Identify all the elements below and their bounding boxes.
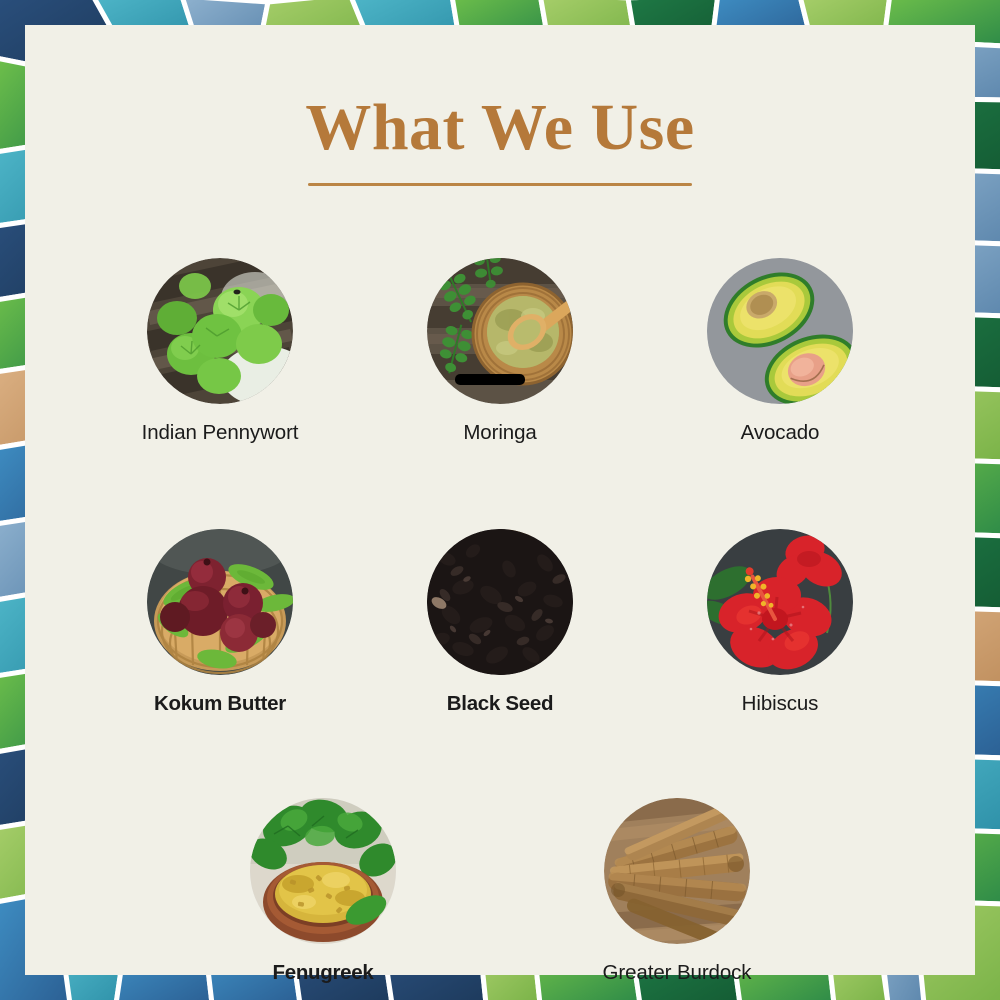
greater-burdock-photo xyxy=(604,798,750,944)
ingredient-label: Hibiscus xyxy=(742,692,819,716)
ingredient-item-avocado[interactable]: Avocado xyxy=(707,258,853,445)
ingredient-row: Kokum Butter xyxy=(25,529,975,716)
ingredient-row: Fenugreek xyxy=(25,798,975,985)
ingredient-grid: Indian Pennywort xyxy=(25,258,975,985)
ingredient-label: Kokum Butter xyxy=(154,692,286,716)
header: What We Use xyxy=(0,95,1000,186)
ingredient-label: Avocado xyxy=(741,421,820,445)
avocado-photo xyxy=(707,258,853,404)
ingredient-label: Greater Burdock xyxy=(603,961,752,985)
ingredient-item-fenugreek[interactable]: Fenugreek xyxy=(213,798,433,985)
ingredient-label: Fenugreek xyxy=(273,961,374,985)
ingredient-item-indian-pennywort[interactable]: Indian Pennywort xyxy=(147,258,293,445)
fenugreek-photo xyxy=(250,798,396,944)
page-title: What We Use xyxy=(305,95,694,161)
black-seed-photo xyxy=(427,529,573,675)
moringa-photo xyxy=(427,258,573,404)
ingredient-label: Black Seed xyxy=(447,692,553,716)
hibiscus-photo xyxy=(707,529,853,675)
title-underline-rule xyxy=(308,183,692,186)
ingredient-item-greater-burdock[interactable]: Greater Burdock xyxy=(567,798,787,985)
ingredient-item-black-seed[interactable]: Black Seed xyxy=(427,529,573,716)
ingredient-item-moringa[interactable]: Moringa xyxy=(427,258,573,445)
indian-pennywort-photo xyxy=(147,258,293,404)
ingredient-row: Indian Pennywort xyxy=(25,258,975,445)
poster: What We Use xyxy=(0,0,1000,1000)
ingredient-label: Indian Pennywort xyxy=(142,421,299,445)
ingredient-label: Moringa xyxy=(463,421,536,445)
kokum-butter-photo xyxy=(147,529,293,675)
ingredient-item-hibiscus[interactable]: Hibiscus xyxy=(707,529,853,716)
ingredient-item-kokum-butter[interactable]: Kokum Butter xyxy=(147,529,293,716)
